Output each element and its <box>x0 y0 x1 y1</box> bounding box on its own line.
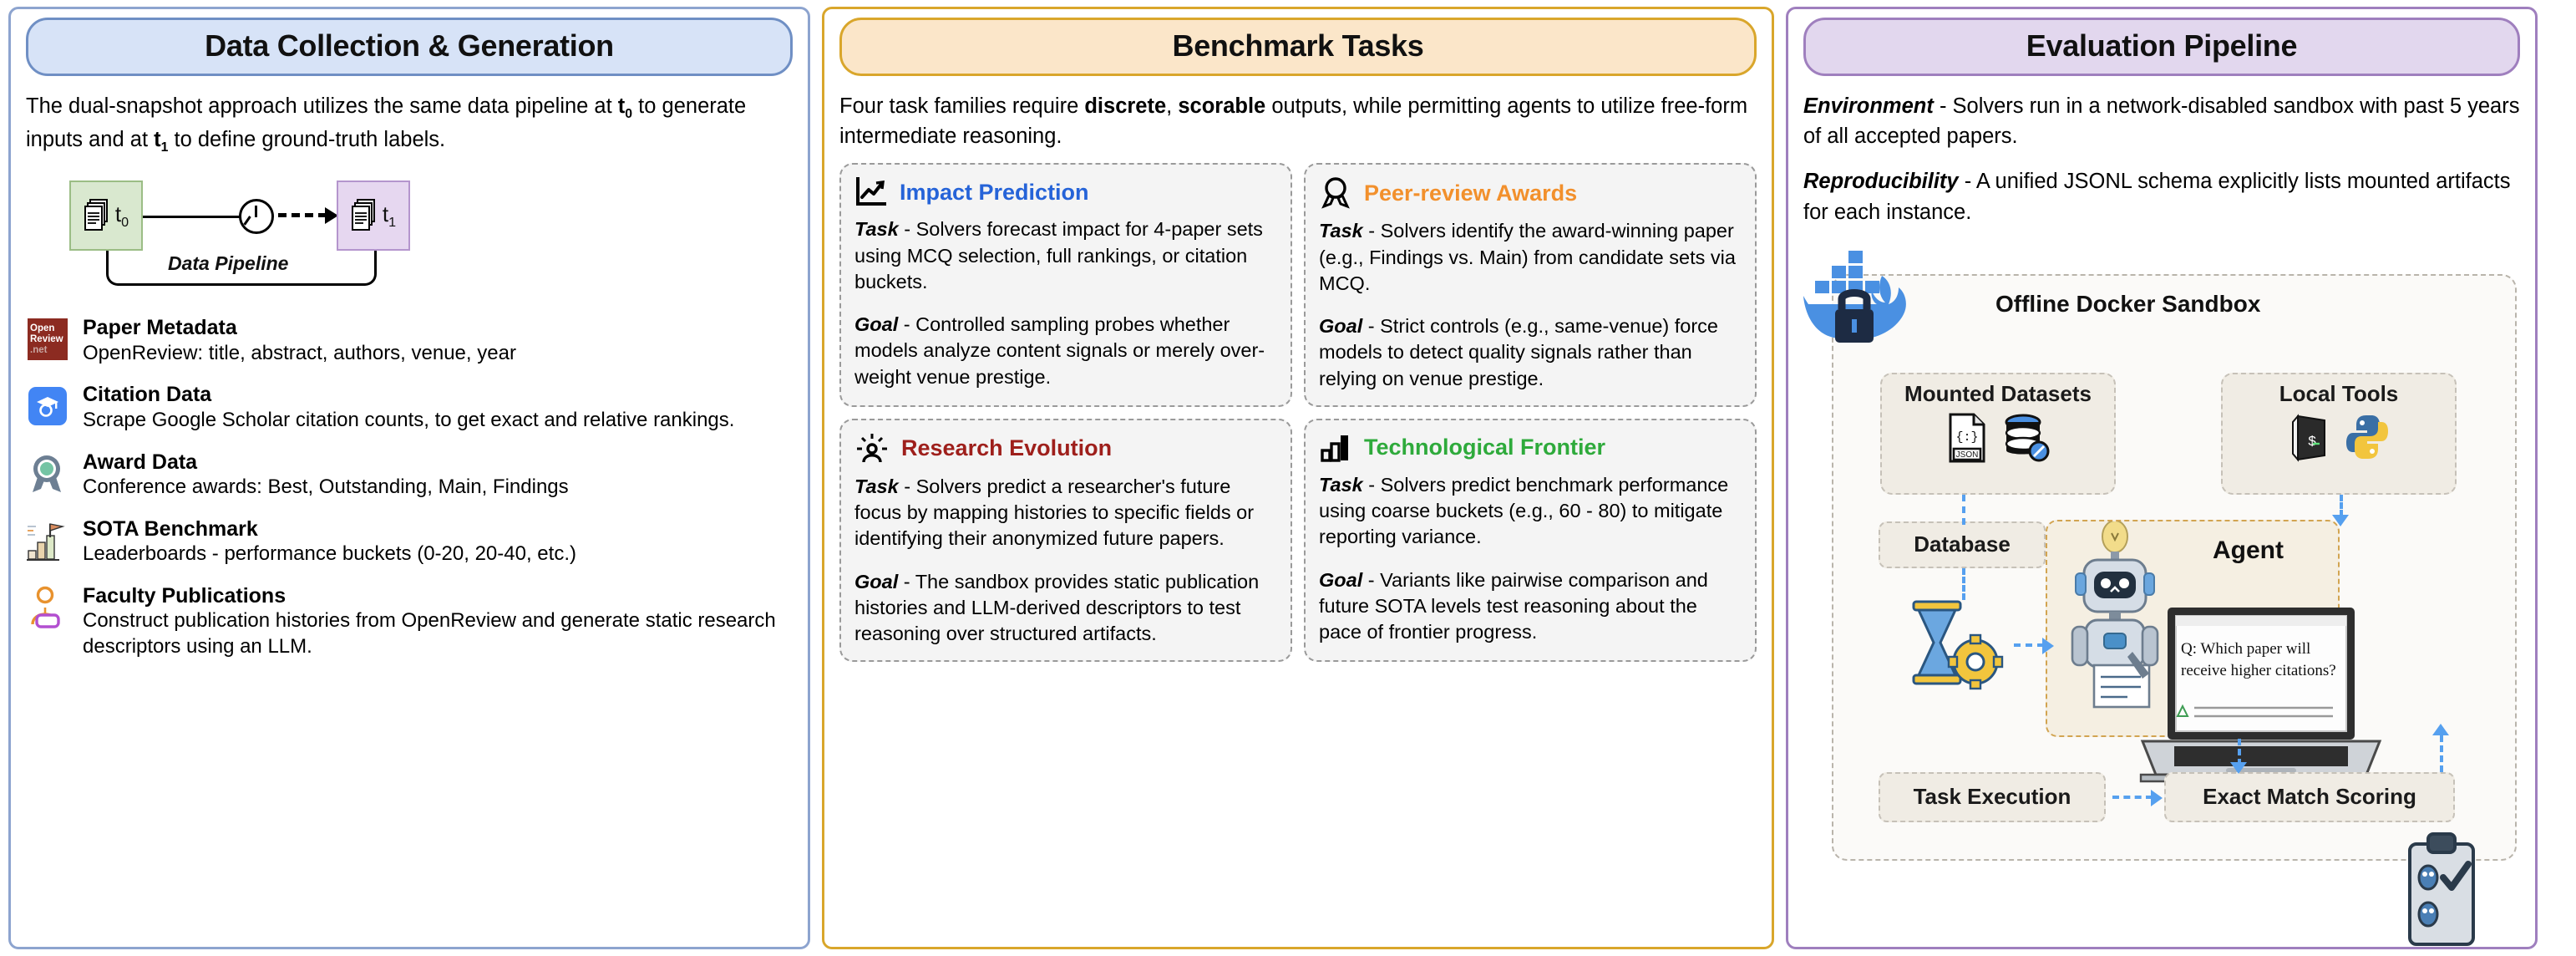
middle-panel-title: Benchmark Tasks <box>839 18 1757 76</box>
medal-glyph-icon <box>28 452 68 496</box>
list-item: Award Data Conference awards: Best, Outs… <box>26 450 793 501</box>
terminal-icon: $ <box>2288 412 2331 462</box>
google-scholar-icon <box>26 383 69 430</box>
task-card-impact-prediction[interactable]: Impact Prediction Task - Solvers forecas… <box>839 163 1292 407</box>
intro-part-a: The dual-snapshot approach utilizes the … <box>26 94 618 118</box>
goal-text: - Strict controls (e.g., same-venue) for… <box>1319 315 1718 389</box>
connector-task-execution-to-scoring <box>2112 796 2153 799</box>
goal-label: Goal <box>1319 315 1362 337</box>
mounted-datasets-label: Mounted Datasets <box>1882 374 2114 407</box>
intro-t0-sub: 0 <box>625 107 632 121</box>
card-goal-paragraph: Goal - The sandbox provides static publi… <box>854 569 1277 648</box>
task-label: Task <box>1319 474 1363 496</box>
clock-icon <box>239 199 274 234</box>
pipeline-node-t1: t1 <box>337 181 410 251</box>
pipeline-solid-line <box>143 216 241 218</box>
card-goal-paragraph: Goal - Variants like pairwise comparison… <box>1319 567 1742 646</box>
task-text: - Solvers forecast impact for 4-paper se… <box>854 218 1263 292</box>
source-desc: Conference awards: Best, Outstanding, Ma… <box>83 475 569 501</box>
docker-whale-lock-icon <box>1800 244 1967 369</box>
award-medal-icon <box>26 450 69 497</box>
source-desc: Scrape Google Scholar citation counts, t… <box>83 408 734 434</box>
left-panel-title: Data Collection & Generation <box>26 18 793 76</box>
panel-data-collection: Data Collection & Generation The dual-sn… <box>8 7 810 949</box>
pipeline-dashed-line <box>278 213 327 217</box>
bar-chart-icon <box>1319 432 1352 464</box>
environment-label: Environment <box>1803 94 1934 118</box>
award-ribbon-icon <box>1319 176 1352 210</box>
right-panel-title: Evaluation Pipeline <box>1803 18 2520 76</box>
source-title: Citation Data <box>83 383 734 408</box>
faculty-person-icon <box>26 584 69 631</box>
json-file-icon: {:} JSON <box>1945 412 1989 464</box>
pipeline-node-t1-label: t1 <box>383 201 396 231</box>
arrow-scoring-to-clipboard-icon <box>2432 724 2449 735</box>
documents-icon <box>84 199 112 232</box>
arrow-tools-to-agent-icon <box>2332 515 2349 526</box>
mid-intro-a: Four task families require <box>839 94 1084 118</box>
clipboard-check-icon <box>2403 831 2480 956</box>
connector-scoring-to-clipboard <box>2440 735 2443 772</box>
card-goal-paragraph: Goal - Strict controls (e.g., same-venue… <box>1319 313 1742 392</box>
list-item: Open Review .net Paper Metadata OpenRevi… <box>26 316 793 366</box>
arrow-task-execution-to-scoring-icon <box>2151 790 2163 806</box>
list-item: SOTA Benchmark Leaderboards - performanc… <box>26 517 793 567</box>
agent-question-text: Q: Which paper will receive higher citat… <box>2181 638 2356 682</box>
card-task-paragraph: Task - Solvers identify the award-winnin… <box>1319 218 1742 297</box>
infographic-board: Data Collection & Generation The dual-sn… <box>0 0 2576 956</box>
local-tools-box: Local Tools $ <box>2221 373 2457 495</box>
exact-match-scoring-pill: Exact Match Scoring <box>2164 772 2455 822</box>
mounted-datasets-box: Mounted Datasets {:} JSON <box>1880 373 2116 495</box>
svg-text:{:}: {:} <box>1955 430 1978 445</box>
source-desc: Construct publication histories from Ope… <box>83 608 793 659</box>
card-title: Impact Prediction <box>900 180 1089 206</box>
task-card-peer-review-awards[interactable]: Peer-review Awards Task - Solvers identi… <box>1304 163 1757 407</box>
mid-intro-sep: , <box>1166 94 1178 118</box>
database-label: Database <box>1914 531 2011 557</box>
card-task-paragraph: Task - Solvers forecast impact for 4-pap… <box>854 216 1277 295</box>
pipeline-node-t0-label: t0 <box>115 201 129 231</box>
reproducibility-label: Reproducibility <box>1803 170 1959 193</box>
goal-text: - Variants like pairwise comparison and … <box>1319 569 1708 643</box>
data-sources-list: Open Review .net Paper Metadata OpenRevi… <box>26 316 793 660</box>
card-title: Peer-review Awards <box>1364 181 1577 206</box>
source-title: SOTA Benchmark <box>83 517 576 542</box>
card-header: Peer-review Awards <box>1319 176 1742 210</box>
svg-text:JSON: JSON <box>1956 450 1979 460</box>
openreview-line1: Open <box>30 323 68 334</box>
leaderboard-glyph-icon <box>26 519 69 562</box>
laptop-icon <box>2136 601 2386 789</box>
card-task-paragraph: Task - Solvers predict a researcher's fu… <box>854 474 1277 552</box>
card-header: Technological Frontier <box>1319 432 1742 464</box>
source-desc: OpenReview: title, abstract, authors, ve… <box>83 341 516 367</box>
line-chart-icon <box>854 176 888 208</box>
task-label: Task <box>1319 220 1363 242</box>
left-intro-text: The dual-snapshot approach utilizes the … <box>26 91 793 157</box>
database-pill: Database <box>1879 521 2046 568</box>
openreview-line3: .net <box>30 345 68 356</box>
task-execution-pill: Task Execution <box>1879 772 2106 822</box>
panel-evaluation-pipeline: Evaluation Pipeline Environment - Solver… <box>1786 7 2538 949</box>
task-card-research-evolution[interactable]: Research Evolution Task - Solvers predic… <box>839 419 1292 663</box>
arrow-agent-to-task-execution-icon <box>2230 762 2247 774</box>
task-label: Task <box>854 218 899 240</box>
local-tools-label: Local Tools <box>2223 374 2455 407</box>
connector-tools-to-agent <box>2340 495 2343 516</box>
mounted-datasets-icons: {:} JSON <box>1882 407 2114 464</box>
scoring-label: Exact Match Scoring <box>2203 784 2416 810</box>
environment-text: Environment - Solvers run in a network-d… <box>1803 91 2520 151</box>
data-pipeline-diagram: t0 t1 Data Pipeline <box>26 169 793 294</box>
agent-label: Agent <box>2213 536 2284 565</box>
card-header: Impact Prediction <box>854 176 1277 208</box>
goal-text: - The sandbox provides static publicatio… <box>854 571 1259 645</box>
connector-mounted-to-database <box>1962 495 1965 525</box>
local-tools-icons: $ <box>2223 407 2455 462</box>
card-header: Research Evolution <box>854 432 1277 465</box>
documents-icon <box>351 199 379 232</box>
goal-label: Goal <box>1319 569 1362 591</box>
pipeline-loop-label: Data Pipeline <box>168 252 288 275</box>
intro-part-c: to define ground-truth labels. <box>168 128 445 151</box>
source-title: Award Data <box>83 450 569 475</box>
source-desc: Leaderboards - performance buckets (0-20… <box>83 542 576 567</box>
mid-intro-bold-discrete: discrete <box>1084 94 1166 118</box>
bar-chart-flag-icon <box>26 517 69 564</box>
scholar-glyph-icon <box>35 394 60 419</box>
openreview-logo-icon: Open Review .net <box>26 316 69 363</box>
researcher-idea-icon <box>854 432 890 465</box>
card-goal-paragraph: Goal - Controlled sampling probes whethe… <box>854 312 1277 390</box>
intro-t1: t <box>154 128 161 151</box>
goal-label: Goal <box>854 313 898 335</box>
source-title: Faculty Publications <box>83 584 793 609</box>
source-title: Paper Metadata <box>83 316 516 341</box>
task-cards-grid: Impact Prediction Task - Solvers forecas… <box>839 163 1757 662</box>
task-text: - Solvers identify the award-winning pap… <box>1319 220 1736 294</box>
pipeline-node-t0: t0 <box>69 181 143 251</box>
connector-database-to-hourglass <box>1962 568 1965 600</box>
task-card-technological-frontier[interactable]: Technological Frontier Task - Solvers pr… <box>1304 419 1757 663</box>
task-label: Task <box>854 475 899 497</box>
task-execution-label: Task Execution <box>1914 784 2071 810</box>
list-item: Faculty Publications Construct publicati… <box>26 584 793 660</box>
svg-text:$: $ <box>2308 435 2316 450</box>
card-title: Research Evolution <box>901 435 1112 461</box>
task-text: - Solvers predict benchmark performance … <box>1319 474 1728 548</box>
list-item: Citation Data Scrape Google Scholar cita… <box>26 383 793 433</box>
middle-intro-text: Four task families require discrete, sco… <box>839 91 1757 151</box>
reproducibility-text: Reproducibility - A unified JSONL schema… <box>1803 166 2520 226</box>
sandbox-title: Offline Docker Sandbox <box>1995 291 2260 318</box>
card-task-paragraph: Task - Solvers predict benchmark perform… <box>1319 472 1742 551</box>
goal-text: - Controlled sampling probes whether mod… <box>854 313 1265 388</box>
panel-benchmark-tasks: Benchmark Tasks Four task families requi… <box>822 7 1774 949</box>
hourglass-gear-icon <box>1897 595 2007 695</box>
database-stack-icon <box>2002 413 2051 463</box>
arrow-hourglass-to-agent-icon <box>2042 638 2054 654</box>
offline-docker-sandbox-diagram: Offline Docker Sandbox Mounted Datasets … <box>1803 246 2520 864</box>
task-text: - Solvers predict a researcher's future … <box>854 475 1254 550</box>
connector-hourglass-to-agent <box>2014 643 2044 647</box>
person-glyph-icon <box>28 586 68 629</box>
python-icon <box>2345 414 2390 460</box>
goal-label: Goal <box>854 571 898 592</box>
mid-intro-bold-scorable: scorable <box>1178 94 1265 118</box>
card-title: Technological Frontier <box>1364 435 1605 460</box>
openreview-line2: Review <box>30 334 68 345</box>
